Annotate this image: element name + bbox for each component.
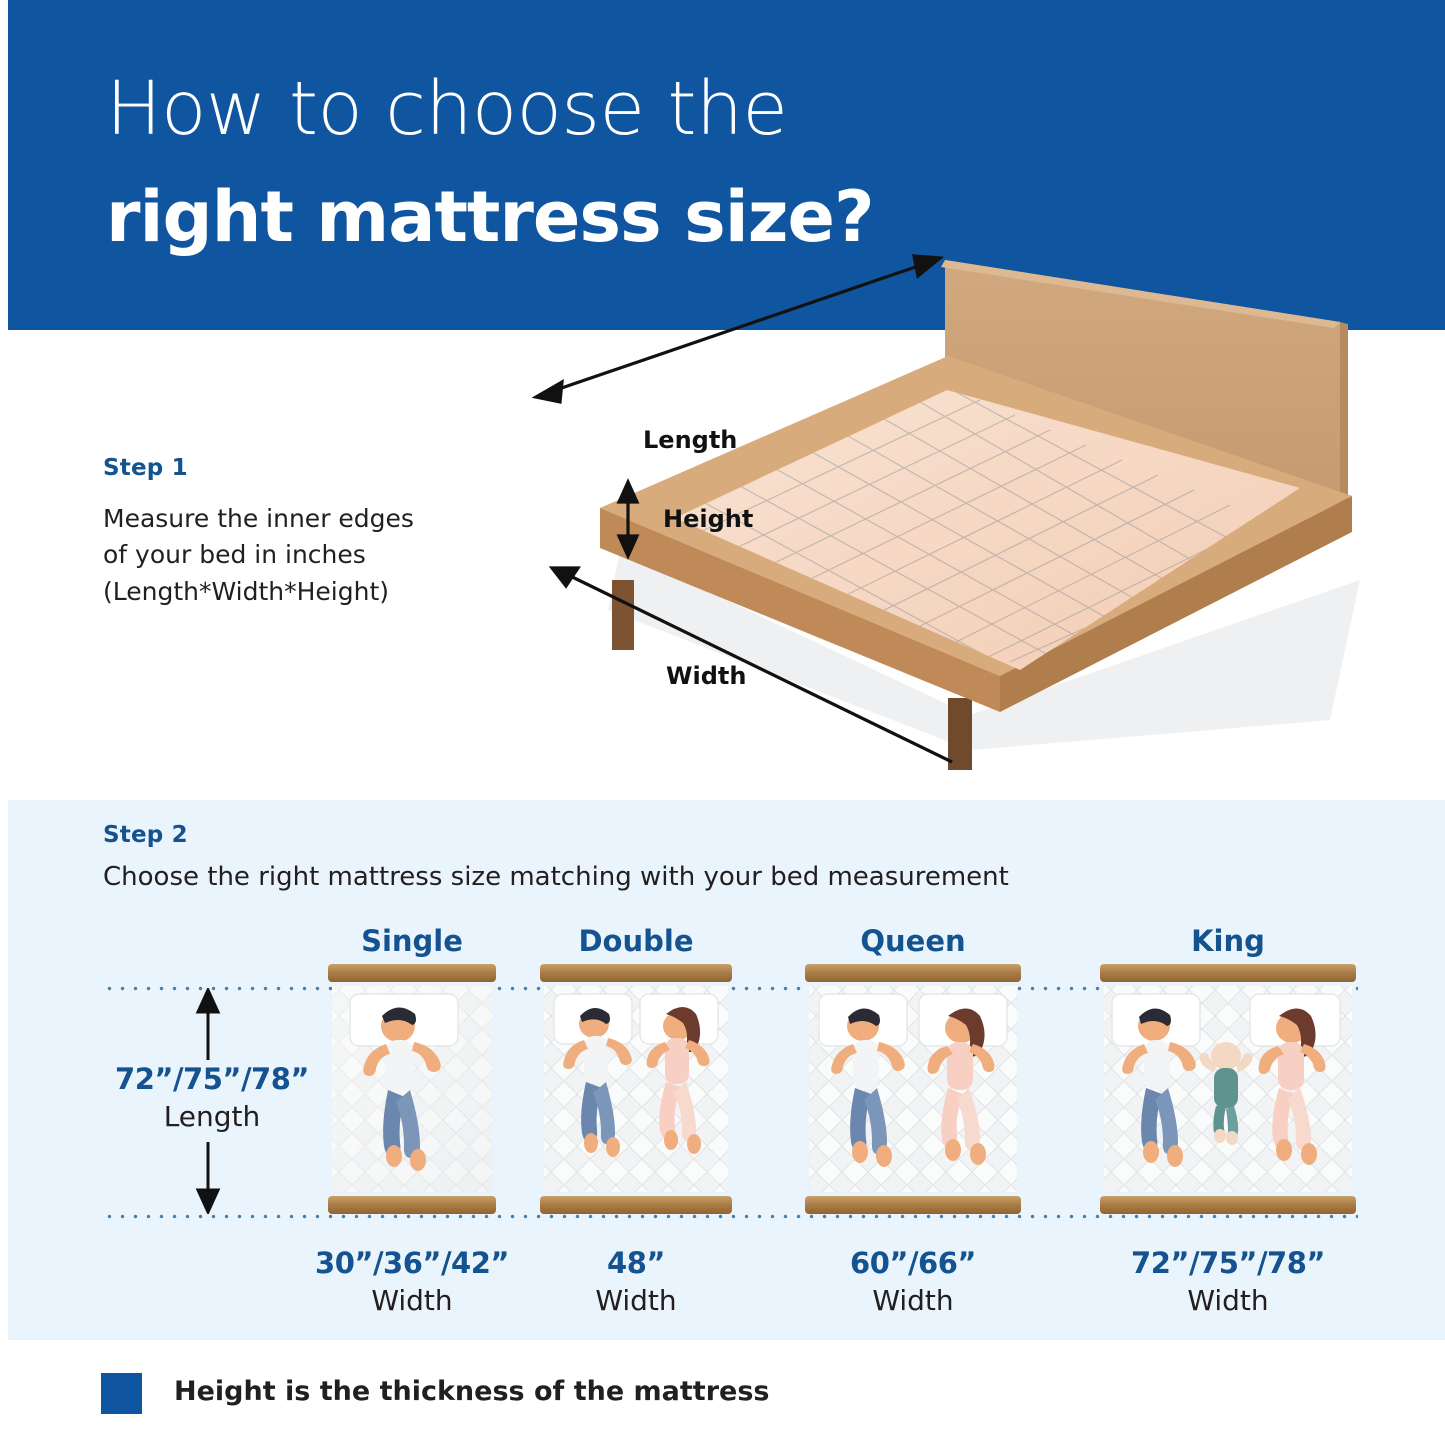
size-dims-single: 30”/36”/42” Width [296,1246,528,1317]
size-dims-double: 48” Width [508,1246,764,1317]
length-label: Length [643,426,737,454]
size-name-queen: Queen [803,924,1023,958]
step-1-body-line1: Measure the inner edges [103,501,503,537]
step-2-label: Step 2 [103,822,188,848]
page-title-line2: right mattress size? [106,182,874,252]
mattress-illustration-queen [803,964,1023,1237]
mattress-illustration-single [326,964,498,1237]
mattress-illustration-king [1098,964,1358,1237]
legend-swatch-icon [101,1373,142,1414]
height-label: Height [663,505,753,533]
step-2-panel: Step 2 Choose the right mattress size ma… [8,800,1445,1340]
width-caption-single: Width [296,1284,528,1317]
size-dims-queen: 60”/66” Width [773,1246,1053,1317]
length-arrow [536,256,940,402]
infographic-page: How to choose the right mattress size? [0,0,1445,1445]
step-1-body: Measure the inner edges of your bed in i… [103,501,503,610]
page-title-line1: How to choose the [106,72,787,146]
step-1-label: Step 1 [103,455,503,481]
width-label: Width [666,662,746,690]
size-name-king: King [1098,924,1358,958]
length-measure-caption: Length [103,1100,321,1133]
length-measure-text: 72”/75”/78” Length [103,1062,321,1133]
bed-illustration-svg [500,250,1400,770]
footer-note-text: Height is the thickness of the mattress [174,1376,769,1407]
width-caption-queen: Width [773,1284,1053,1317]
mattress-illustration-double [538,964,734,1237]
step-2-subtitle: Choose the right mattress size matching … [103,862,1009,892]
width-value-double: 48” [508,1246,764,1280]
width-value-queen: 60”/66” [773,1246,1053,1280]
width-value-single: 30”/36”/42” [296,1246,528,1280]
length-measure-value: 72”/75”/78” [103,1062,321,1096]
step-1-body-line2: of your bed in inches [103,537,503,573]
size-dims-king: 72”/75”/78” Width [1068,1246,1388,1317]
step-1-block: Step 1 Measure the inner edges of your b… [103,455,503,610]
bed-diagram: Length Height Width [500,250,1400,770]
footer-note-row: Height is the thickness of the mattress [0,1368,1445,1428]
width-caption-king: Width [1068,1284,1388,1317]
size-name-single: Single [326,924,498,958]
step-1-body-line3: (Length*Width*Height) [103,574,503,610]
size-name-double: Double [538,924,734,958]
headboard-edge [1340,322,1348,512]
width-caption-double: Width [508,1284,764,1317]
width-value-king: 72”/75”/78” [1068,1246,1388,1280]
